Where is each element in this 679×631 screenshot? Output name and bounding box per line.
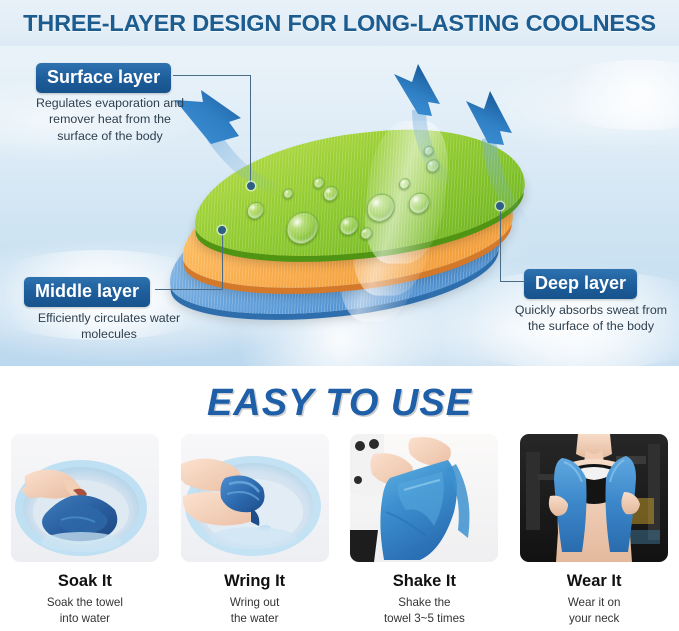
surface-layer-pill: Surface layer — [36, 63, 171, 93]
deep-layer-description: Quickly absorbs sweat from the surface o… — [503, 302, 679, 335]
page-title: THREE-LAYER DESIGN FOR LONG-LASTING COOL… — [23, 10, 656, 37]
middle-layer-anchor-dot — [218, 226, 226, 234]
deep-layer-pill: Deep layer — [524, 269, 637, 299]
soak-it-photo — [11, 434, 159, 562]
deep-layer-label: Deep layer — [535, 273, 626, 293]
usage-step-soak: Soak It Soak the towel into water — [0, 434, 170, 626]
wear-it-illustration — [520, 434, 668, 562]
surface-layer-description: Regulates evaporation and remover heat f… — [10, 95, 210, 144]
three-layer-diagram-section: THREE-LAYER DESIGN FOR LONG-LASTING COOL… — [0, 0, 679, 366]
soak-it-illustration — [11, 434, 159, 562]
middle-layer-label: Middle layer — [35, 281, 139, 301]
step-desc-shake: Shake the towel 3~5 times — [384, 595, 465, 626]
surface-layer-anchor-dot — [247, 182, 255, 190]
usage-step-wear: Wear It Wear it on your neck — [509, 434, 679, 626]
step-desc-soak: Soak the towel into water — [47, 595, 123, 626]
wring-it-photo — [181, 434, 329, 562]
surface-layer-connector — [173, 75, 251, 76]
middle-layer-pill: Middle layer — [24, 277, 150, 307]
step-title-soak: Soak It — [58, 572, 112, 591]
wear-it-photo — [520, 434, 668, 562]
step-title-shake: Shake It — [393, 572, 456, 591]
step-title-wear: Wear It — [567, 572, 622, 591]
step-title-wring: Wring It — [224, 572, 285, 591]
easy-to-use-heading: EASY TO USE — [0, 382, 679, 425]
step-desc-wring: Wring out the water — [230, 595, 279, 626]
shake-it-photo — [350, 434, 498, 562]
usage-step-shake: Shake It Shake the towel 3~5 times — [340, 434, 510, 626]
step-desc-wear: Wear it on your neck — [568, 595, 621, 626]
deep-layer-anchor-dot — [496, 202, 504, 210]
easy-to-use-section: EASY TO USE — [0, 366, 679, 631]
title-band: THREE-LAYER DESIGN FOR LONG-LASTING COOL… — [0, 0, 679, 46]
infographic-page: THREE-LAYER DESIGN FOR LONG-LASTING COOL… — [0, 0, 679, 631]
wring-it-illustration — [181, 434, 329, 562]
surface-layer-label: Surface layer — [47, 67, 160, 87]
usage-steps-row: Soak It Soak the towel into water — [0, 434, 679, 626]
middle-layer-description: Efficiently circulates water molecules — [4, 310, 214, 343]
usage-step-wring: Wring It Wring out the water — [170, 434, 340, 626]
shake-it-illustration — [350, 434, 498, 562]
